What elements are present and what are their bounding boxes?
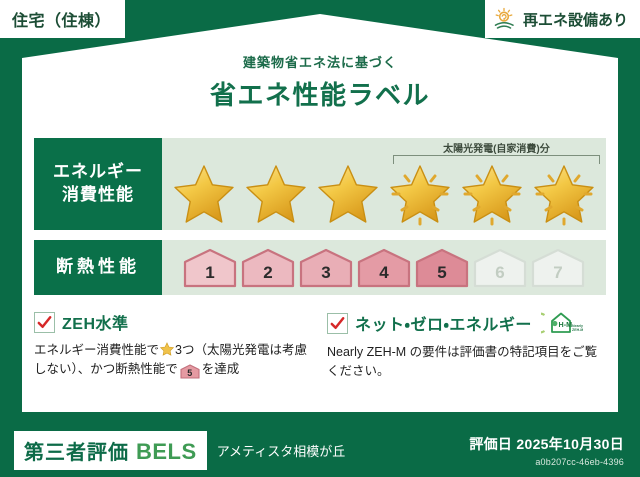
star-icon — [172, 162, 236, 226]
renewable-equipment-label: 再エネ設備あり — [523, 9, 628, 30]
bels-jp-label: 第三者評価 — [24, 436, 129, 465]
title-subtitle: 建築物省エネ法に基づく — [0, 52, 640, 71]
evaluation-info: 評価日 2025年10月30日 a0b207cc-46eb-4396 — [469, 434, 624, 467]
criteria-section: ZEH水準 エネルギー消費性能で3つ（太陽光発電は考慮しない）、かつ断熱性能で5… — [34, 310, 606, 402]
insulation-performance-label: 断熱性能 — [34, 240, 162, 295]
insulation-performance-body: 1234567 — [162, 240, 606, 295]
star-base — [316, 162, 380, 226]
svg-text:H-M: H-M — [558, 320, 572, 329]
star-solar — [388, 162, 452, 226]
solar-generation-note: 太陽光発電(自家消費)分 — [393, 140, 600, 155]
insulation-level-4: 4 — [357, 248, 411, 288]
bels-en-label: BELS — [136, 439, 197, 465]
inline-star-icon — [160, 342, 174, 356]
building-type-label: 住宅（住棟） — [12, 7, 111, 31]
renewable-equipment-tag: 再エネ設備あり — [485, 0, 640, 38]
insulation-performance-row: 断熱性能 1234567 — [34, 240, 606, 295]
evaluation-id: a0b207cc-46eb-4396 — [469, 457, 624, 467]
star-base — [172, 162, 236, 226]
zeh-text-d: を達成 — [202, 362, 240, 376]
criterion-net-zero-energy: ネット・ゼロ・エネルギー H-M Nearly ZEH-M Nearly ZEH… — [327, 310, 606, 402]
checkmark-icon — [327, 313, 348, 334]
insulation-level-5: 5 — [415, 248, 469, 288]
insulation-level-scale: 1234567 — [162, 240, 606, 295]
zeh-text-a: エネルギー消費性能で — [34, 343, 159, 357]
energy-performance-body: 太陽光発電(自家消費)分 — [162, 138, 606, 230]
criterion-zeh-standard: ZEH水準 エネルギー消費性能で3つ（太陽光発電は考慮しない）、かつ断熱性能で5… — [34, 310, 313, 402]
inline-badge-value: 5 — [180, 364, 200, 383]
star-icon — [244, 162, 308, 226]
insulation-level-value: 4 — [379, 264, 388, 288]
zeh-text-b: 3つ（太陽光発電 — [175, 343, 269, 357]
insulation-level-7: 7 — [531, 248, 585, 288]
criterion-zeh-description: エネルギー消費性能で3つ（太陽光発電は考慮しない）、かつ断熱性能で5を達成 — [34, 341, 313, 380]
zeh-m-logo-icon: H-M Nearly ZEH-M — [541, 310, 583, 336]
zeh-logo-sub2: ZEH-M — [572, 328, 583, 332]
criterion-zeh-title: ZEH水準 — [62, 310, 129, 334]
insulation-level-value: 2 — [263, 264, 272, 288]
inline-insulation-badge: 5 — [180, 364, 200, 379]
insulation-level-2: 2 — [241, 248, 295, 288]
star-icon — [460, 162, 524, 226]
insulation-level-value: 7 — [553, 264, 562, 288]
energy-label-root: 住宅（住棟） 再エネ設備あり 建築物省エネ法に基づく 省エネ性能ラベル エネルギ… — [0, 0, 640, 477]
star-icon — [532, 162, 596, 226]
insulation-level-1: 1 — [183, 248, 237, 288]
criterion-zeh-header: ZEH水準 — [34, 310, 313, 334]
insulation-level-3: 3 — [299, 248, 353, 288]
insulation-level-value: 1 — [205, 264, 214, 288]
star-solar — [532, 162, 596, 226]
star-icon — [316, 162, 380, 226]
energy-performance-label: エネルギー 消費性能 — [34, 138, 162, 230]
insulation-level-value: 6 — [495, 264, 504, 288]
building-name: アメティスタ相模が丘 — [217, 441, 346, 460]
energy-label-line1: エネルギー — [53, 161, 143, 184]
evaluation-date: 評価日 2025年10月30日 — [469, 434, 624, 454]
checkmark-icon — [34, 312, 55, 333]
criterion-nze-header: ネット・ゼロ・エネルギー H-M Nearly ZEH-M — [327, 310, 606, 336]
energy-label-line2: 消費性能 — [62, 184, 134, 207]
building-type-tag: 住宅（住棟） — [0, 0, 125, 38]
criterion-nze-title: ネット・ゼロ・エネルギー — [355, 311, 532, 335]
energy-star-rating — [162, 162, 606, 226]
bels-certification-box: 第三者評価 BELS — [14, 431, 207, 470]
energy-performance-row: エネルギー 消費性能 太陽光発電(自家消費)分 — [34, 138, 606, 230]
insulation-level-value: 3 — [321, 264, 330, 288]
label-footer: 第三者評価 BELS アメティスタ相模が丘 評価日 2025年10月30日 a0… — [0, 423, 640, 477]
insulation-level-6: 6 — [473, 248, 527, 288]
star-solar — [460, 162, 524, 226]
label-title: 建築物省エネ法に基づく 省エネ性能ラベル — [0, 52, 640, 112]
criterion-nze-description: Nearly ZEH-M の要件は評価書の特記項目をご覧ください。 — [327, 343, 606, 382]
star-base — [244, 162, 308, 226]
star-icon — [388, 162, 452, 226]
insulation-level-value: 5 — [437, 264, 446, 288]
sun-renewable-icon — [493, 7, 517, 31]
title-main: 省エネ性能ラベル — [0, 75, 640, 112]
